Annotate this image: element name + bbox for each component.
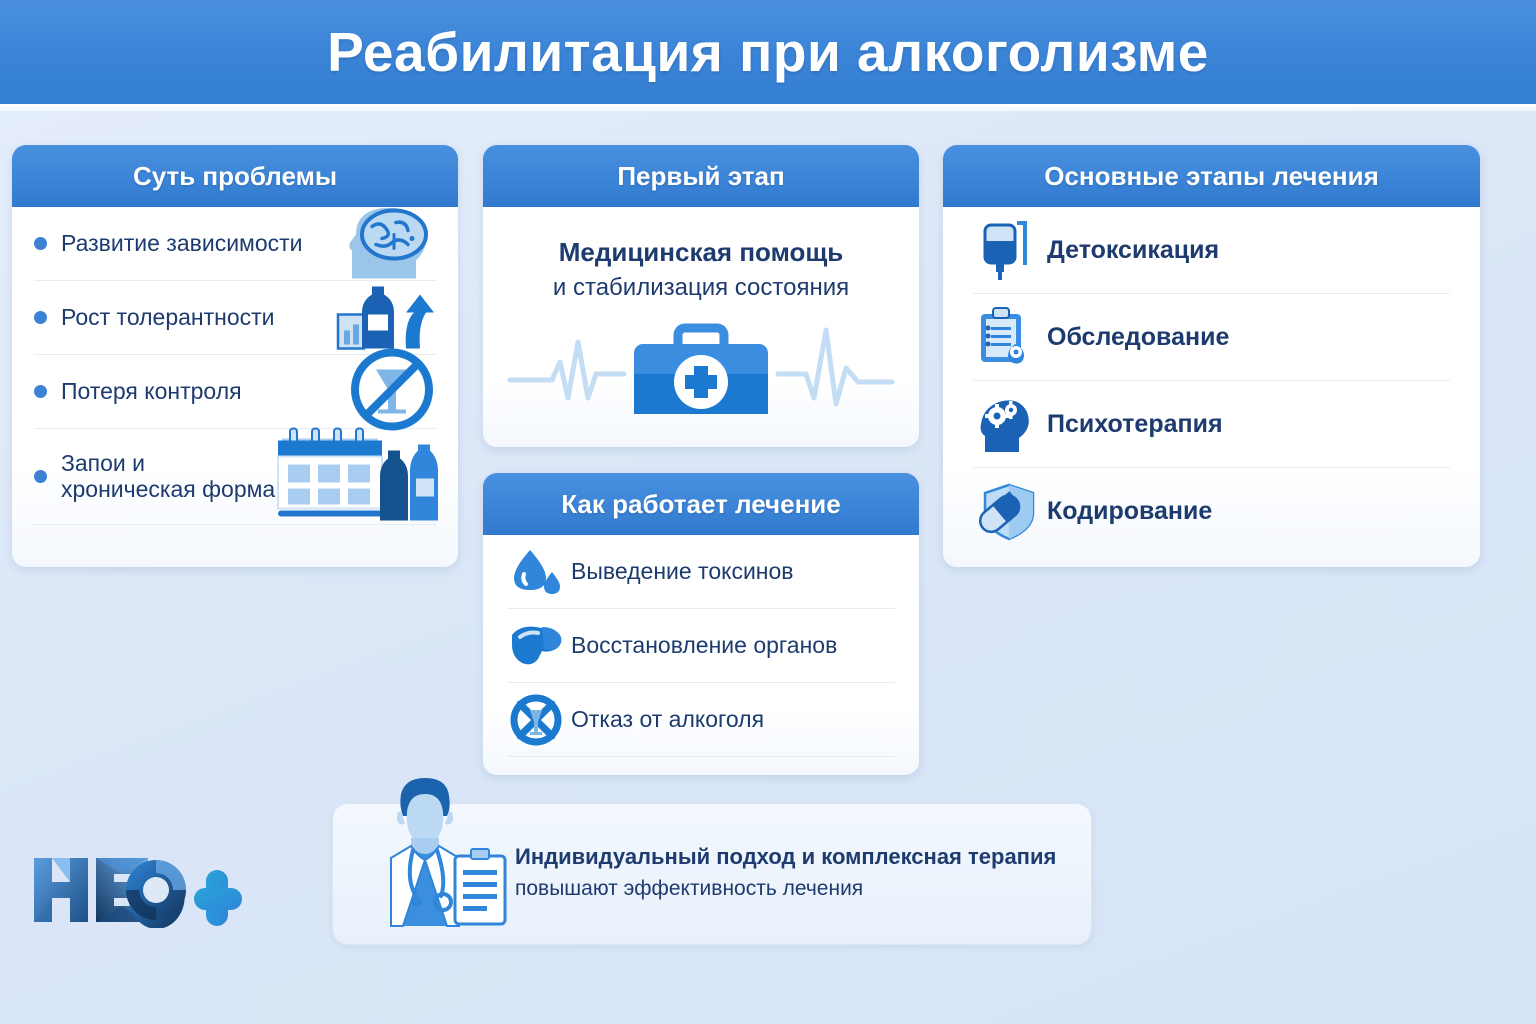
- medical-kit-ecg-icon: [483, 312, 919, 422]
- calendar-bottles-icon: [266, 422, 446, 531]
- card-first-stage-title: Первый этап: [617, 161, 784, 192]
- card-main-stages-header: Основные этапы лечения: [943, 145, 1480, 207]
- footer-line2: повышают эффективность лечения: [515, 873, 1056, 905]
- list-item-label: Выведение токсинов: [571, 558, 794, 585]
- water-drop-icon: [507, 546, 565, 598]
- header-underline: [0, 104, 1536, 111]
- infographic-page: Реабилитация при алкоголизме Суть пробле…: [0, 0, 1536, 1024]
- bottle-chart-arrow-icon: [336, 278, 438, 357]
- list-item-label: Психотерапия: [1047, 410, 1223, 439]
- page-title: Реабилитация при алкоголизме: [327, 20, 1209, 84]
- footer-text: Индивидуальный подход и комплексная тера…: [515, 842, 1056, 904]
- card-how-treatment-header: Как работает лечение: [483, 473, 919, 535]
- bullet-icon: [34, 237, 47, 250]
- card-first-stage-header: Первый этап: [483, 145, 919, 207]
- head-gears-icon: [973, 394, 1039, 454]
- first-stage-text: Медицинская помощь и стабилизация состоя…: [483, 207, 919, 306]
- bullet-icon: [34, 385, 47, 398]
- clipboard-pin-icon: [973, 306, 1039, 368]
- list-item[interactable]: Обследование: [973, 294, 1450, 381]
- list-item-label: Восстановление органов: [571, 632, 837, 659]
- list-item[interactable]: Детоксикация: [973, 207, 1450, 294]
- footer-banner: Индивидуальный подход и комплексная тера…: [332, 803, 1092, 945]
- list-item-label: Потеря контроля: [61, 379, 242, 405]
- list-item[interactable]: Потеря контроля: [34, 355, 436, 429]
- first-stage-line1: Медицинская помощь: [503, 235, 899, 270]
- list-item[interactable]: Психотерапия: [973, 381, 1450, 468]
- pill-shield-icon: [973, 483, 1039, 541]
- doctor-clipboard-icon: [355, 776, 515, 949]
- list-item-label: Обследование: [1047, 323, 1229, 352]
- brain-head-icon: [342, 204, 438, 283]
- card-problem-title: Суть проблемы: [133, 161, 337, 192]
- list-item[interactable]: Восстановление органов: [507, 609, 895, 683]
- card-how-treatment-body: Выведение токсинов Восстановление органо…: [483, 535, 919, 775]
- card-first-stage-body: Медицинская помощь и стабилизация состоя…: [483, 207, 919, 447]
- card-main-stages: Основные этапы лечения Детоксикация: [943, 145, 1480, 567]
- bullet-icon: [34, 470, 47, 483]
- list-item[interactable]: Рост толерантности: [34, 281, 436, 355]
- brand-logo: [30, 852, 246, 933]
- no-entry-cross-icon: [507, 694, 565, 746]
- list-item[interactable]: Отказ от алкоголя: [507, 683, 895, 757]
- list-item-label: Рост толерантности: [61, 305, 275, 331]
- first-stage-line2: и стабилизация состояния: [503, 270, 899, 306]
- card-main-stages-title: Основные этапы лечения: [1044, 161, 1379, 192]
- card-main-stages-body: Детоксикация: [943, 207, 1480, 567]
- page-header: Реабилитация при алкоголизме: [0, 0, 1536, 104]
- card-problem-body: Развитие зависимости Рост толерантнос: [12, 207, 458, 567]
- list-item[interactable]: Кодирование: [973, 468, 1450, 555]
- card-first-stage: Первый этап Медицинская помощь и стабили…: [483, 145, 919, 447]
- card-problem-header: Суть проблемы: [12, 145, 458, 207]
- liver-icon: [507, 623, 565, 669]
- bullet-icon: [34, 311, 47, 324]
- list-item-label: Развитие зависимости: [61, 231, 303, 257]
- list-item[interactable]: Запои и хроническая форма: [34, 429, 436, 525]
- list-item-label: Кодирование: [1047, 497, 1212, 526]
- list-item-label: Детоксикация: [1047, 236, 1219, 265]
- card-how-treatment-title: Как работает лечение: [561, 489, 840, 520]
- list-item[interactable]: Выведение токсинов: [507, 535, 895, 609]
- card-how-treatment: Как работает лечение Выведение токсинов: [483, 473, 919, 775]
- list-item[interactable]: Развитие зависимости: [34, 207, 436, 281]
- list-item-label: Отказ от алкоголя: [571, 706, 764, 733]
- iv-drip-icon: [973, 219, 1039, 281]
- footer-line1: Индивидуальный подход и комплексная тера…: [515, 842, 1056, 873]
- list-item-label: Запои и хроническая форма: [61, 451, 275, 503]
- card-problem: Суть проблемы Развитие зависимости: [12, 145, 458, 567]
